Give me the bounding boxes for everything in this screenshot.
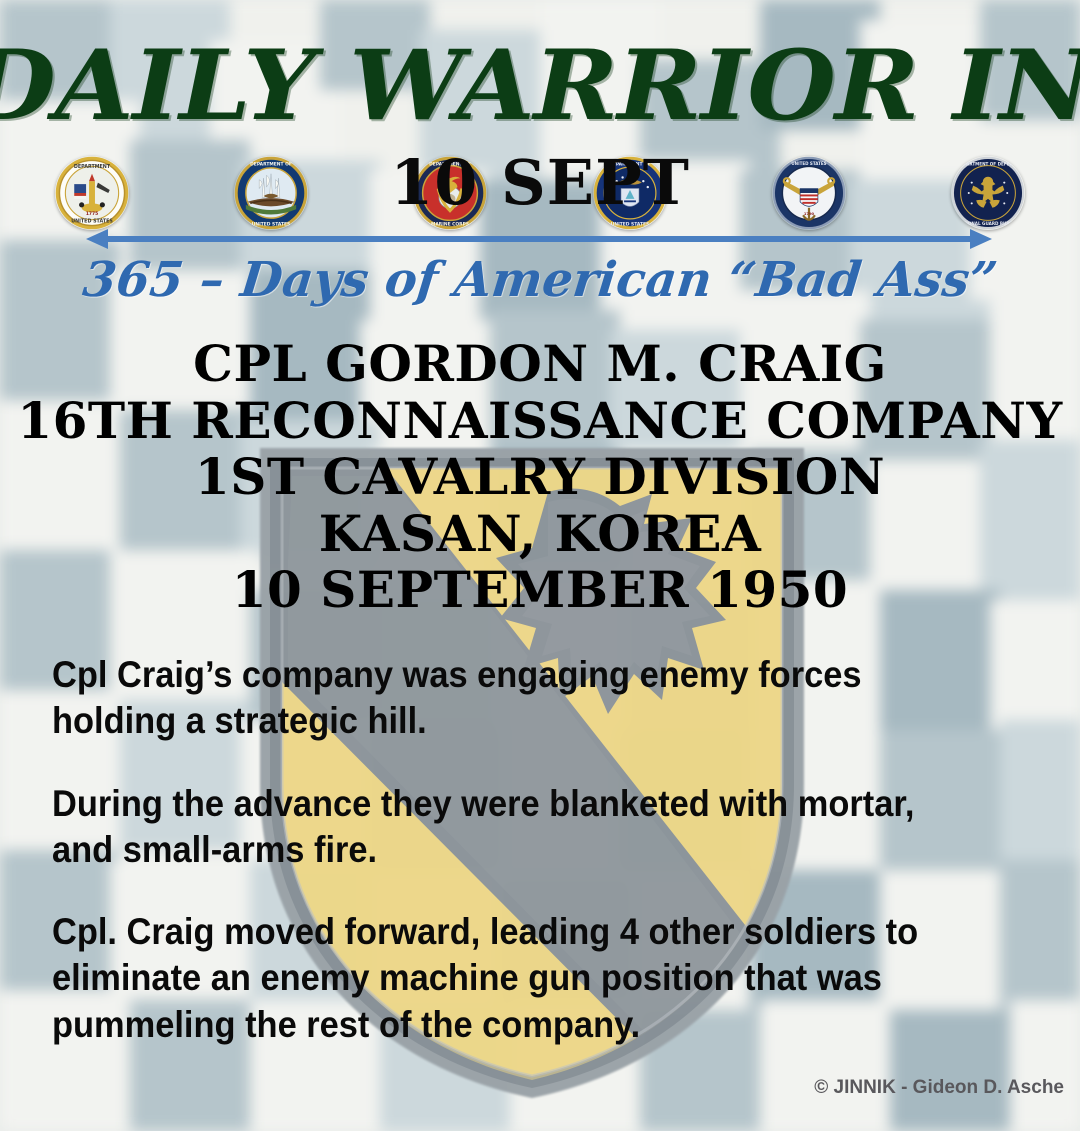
story-p2-line1: During the advance they were blanketed w… xyxy=(52,781,914,827)
honoree-date: 10 SEPTEMBER 1950 xyxy=(0,562,1080,619)
double-headed-arrow-divider xyxy=(86,228,992,250)
story-p1-line1: Cpl Craig’s company was engaging enemy f… xyxy=(52,652,862,698)
page-title: DAILY WARRIOR INSPIRATION xyxy=(0,38,1080,134)
series-subtitle: 365 – Days of American “Bad Ass” xyxy=(0,252,1080,310)
honoree-location: KASAN, KOREA xyxy=(0,506,1080,563)
daily-warrior-inspiration-poster: DAILY WARRIOR INSPIRATION DEPARTMENT UNI… xyxy=(0,0,1080,1131)
honoree-division: 1ST CAVALRY DIVISION xyxy=(0,449,1080,506)
story-paragraph-3: Cpl. Craig moved forward, leading 4 othe… xyxy=(52,909,965,1048)
honoree-rank-name: CPL GORDON M. CRAIG xyxy=(0,336,1080,393)
honoree-unit: 16TH RECONNAISSANCE COMPANY xyxy=(0,393,1080,450)
svg-text:NATIONAL GUARD BUREAU: NATIONAL GUARD BUREAU xyxy=(957,221,1019,226)
story-paragraph-2: During the advance they were blanketed w… xyxy=(52,781,965,874)
story-p2-line2: and small-arms fire. xyxy=(52,827,377,873)
copyright-credit: © JINNIK - Gideon D. Asche xyxy=(814,1077,1064,1099)
honoree-identification-block: CPL GORDON M. CRAIG 16TH RECONNAISSANCE … xyxy=(0,336,1080,619)
svg-text:UNITED STATES: UNITED STATES xyxy=(610,222,648,228)
story-paragraph-1: Cpl Craig’s company was engaging enemy f… xyxy=(52,652,965,745)
svg-text:UNITED STATES: UNITED STATES xyxy=(71,219,113,225)
date-stamp: 10 SEPT xyxy=(0,152,1080,214)
story-p1-line2: holding a strategic hill. xyxy=(52,698,427,744)
story-p3-line2: eliminate an enemy machine gun position … xyxy=(52,955,882,1001)
svg-text:MARINE CORPS: MARINE CORPS xyxy=(431,222,469,228)
svg-text:UNITED STATES: UNITED STATES xyxy=(252,222,290,228)
citation-story: Cpl Craig’s company was engaging enemy f… xyxy=(52,652,965,1048)
story-p3-line1: Cpl. Craig moved forward, leading 4 othe… xyxy=(52,909,918,955)
story-p3-line3: pummeling the rest of the company. xyxy=(52,1002,640,1048)
